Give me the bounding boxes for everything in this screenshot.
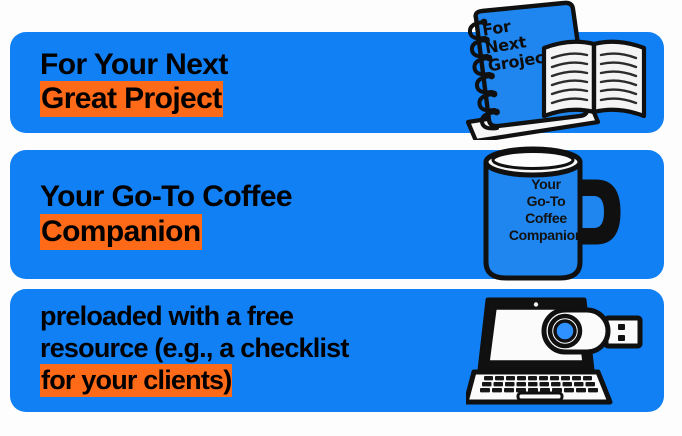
card-2-text: Your Go-To Coffee Companion	[40, 182, 292, 252]
feature-card-3[interactable]: preloaded with a free resource (e.g., a …	[10, 289, 664, 412]
slide-canvas: For Your Next Great Project	[0, 0, 682, 436]
mug-line-2: Go-To	[498, 193, 594, 210]
card-1-line-2-highlight: Great Project	[40, 81, 223, 117]
card-2-line-1: Your Go-To Coffee	[40, 182, 292, 212]
mug-line-4: Companion	[498, 227, 594, 244]
card-2-line-2-highlight: Companion	[40, 214, 202, 250]
card-1-text: For Your Next Great Project	[40, 50, 228, 118]
card-3-line-2: resource (e.g., a checklist	[40, 335, 349, 362]
card-3-text: preloaded with a free resource (e.g., a …	[40, 303, 349, 399]
card-3-line-3-highlight: for your clients)	[40, 364, 232, 397]
notebook-handwriting: For Next Grojec	[481, 13, 545, 75]
mug-text: Your Go-To Coffee Companion	[498, 176, 594, 244]
mug-line-1: Your	[498, 176, 594, 193]
feature-card-1[interactable]: For Your Next Great Project	[10, 32, 664, 133]
mug-line-3: Coffee	[498, 210, 594, 227]
card-3-line-1: preloaded with a free	[40, 303, 349, 330]
card-1-line-1: For Your Next	[40, 50, 228, 80]
